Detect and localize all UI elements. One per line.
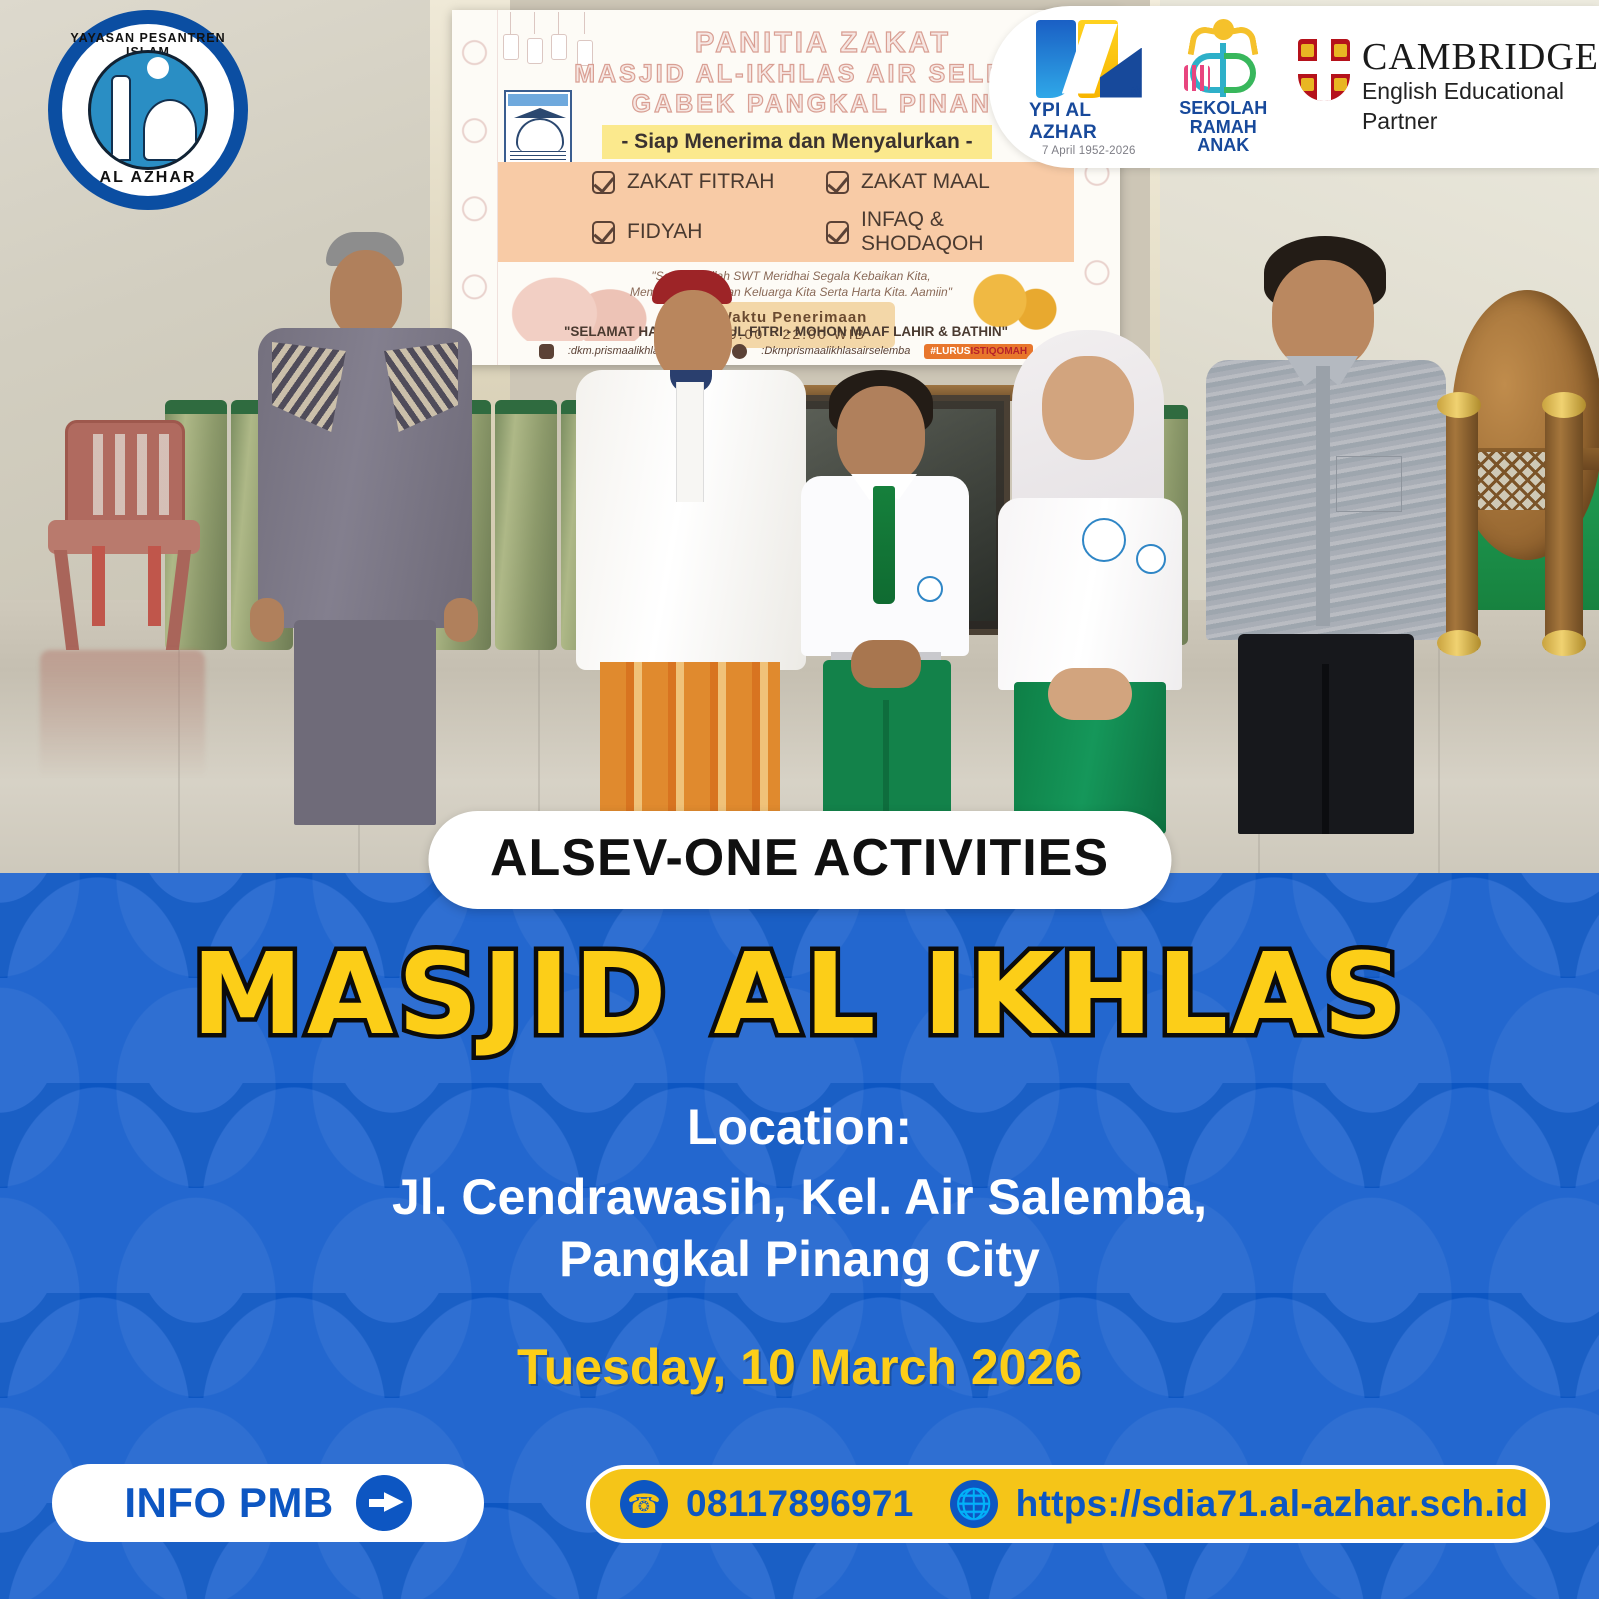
cambridge-crest-icon	[1298, 39, 1350, 101]
person-elder-white-koko	[560, 270, 820, 830]
cambridge-sub-line2: Partner	[1362, 109, 1599, 135]
info-pmb-button[interactable]: INFO PMB	[52, 1464, 484, 1542]
website-url[interactable]: https://sdia71.al-azhar.sch.id	[1016, 1483, 1529, 1525]
sekolah-ramah-anak-block: SEKOLAH RAMAH ANAK	[1169, 19, 1278, 156]
minbar-post-cap	[1542, 392, 1586, 418]
partner-badge: th YPI AL AZHAR 7 April 1952-2026 SEKOLA…	[989, 6, 1599, 168]
check-icon	[826, 171, 849, 194]
hand-left	[250, 598, 284, 642]
shirt-pocket	[1336, 456, 1402, 512]
location-line1: Jl. Cendrawasih, Kel. Air Salemba,	[0, 1168, 1599, 1226]
child-plant-sun-icon	[1184, 19, 1262, 99]
person-student-boy	[795, 370, 975, 832]
banner-item: ZAKAT MAAL	[826, 170, 1060, 194]
minbar-post-cap	[1437, 392, 1481, 418]
banner-item-label: ZAKAT FITRAH	[627, 170, 774, 194]
banner-strip: - Siap Menerima dan Menyalurkan -	[602, 125, 992, 159]
minbar-post-cap	[1437, 630, 1481, 656]
contact-bar: 08117896971 https://sdia71.al-azhar.sch.…	[586, 1465, 1550, 1543]
school-badge-icon	[1082, 518, 1126, 562]
cambridge-sub-line1: English Educational	[1362, 79, 1599, 105]
school-badge-small-icon	[1136, 544, 1166, 574]
black-trousers	[1238, 634, 1414, 834]
ypi-al-azhar-watermark-logo: YAYASAN PESANTREN ISLAM AL AZHAR	[48, 10, 248, 210]
event-date: Tuesday, 10 March 2026	[0, 1338, 1599, 1396]
check-icon	[826, 221, 849, 244]
hands-clasped	[851, 640, 921, 688]
phone-icon	[620, 1480, 668, 1528]
sarong	[600, 662, 780, 832]
event-photo: PANITIA ZAKAT MASJID AL-IKHLAS AIR SELEM…	[0, 0, 1599, 875]
banner-item-label: ZAKAT MAAL	[861, 170, 990, 194]
mosque-dome-minaret-icon	[88, 50, 208, 170]
masjid-logo-icon	[504, 90, 572, 168]
phone-number[interactable]: 08117896971	[686, 1483, 914, 1525]
minbar-post-cap	[1542, 630, 1586, 656]
logo-ring-bottom-text: AL AZHAR	[62, 169, 234, 187]
ypi-name: YPI AL AZHAR	[1029, 100, 1149, 144]
head	[1272, 260, 1374, 370]
ypi-logo-block: th YPI AL AZHAR 7 April 1952-2026	[1029, 18, 1149, 157]
hand-right	[444, 598, 478, 642]
instagram-icon	[539, 344, 554, 359]
info-pmb-label: INFO PMB	[124, 1479, 333, 1527]
shirt-placket	[676, 382, 704, 502]
activities-pill-title: ALSEV-ONE ACTIVITIES	[428, 811, 1171, 909]
head	[654, 290, 732, 382]
banner-item-list: ZAKAT FITRAH ZAKAT MAAL FIDYAH INFAQ & S…	[592, 170, 1060, 256]
location-label: Location:	[0, 1098, 1599, 1156]
head	[837, 386, 925, 484]
person-man-grey-shirt	[1196, 236, 1456, 832]
minbar-post-right	[1545, 400, 1583, 650]
globe-icon	[950, 1480, 998, 1528]
location-line2: Pangkal Pinang City	[0, 1230, 1599, 1288]
banner-item: ZAKAT FITRAH	[592, 170, 826, 194]
arrow-right-icon[interactable]	[356, 1475, 412, 1531]
poster-root: PANITIA ZAKAT MASJID AL-IKHLAS AIR SELEM…	[0, 0, 1599, 1599]
cambridge-wordmark: CAMBRIDGE	[1362, 39, 1599, 75]
anniversary-74-icon: th	[1034, 18, 1144, 100]
sra-line2: RAMAH ANAK	[1169, 118, 1278, 156]
head	[1042, 356, 1134, 460]
anniversary-suffix: th	[1130, 84, 1141, 98]
ypi-dates: 7 April 1952-2026	[1042, 145, 1136, 157]
person-student-girl	[990, 330, 1190, 832]
shirt-placket	[1316, 366, 1330, 626]
plastic-chair	[40, 420, 205, 650]
legs	[294, 620, 436, 825]
hashtag-part-a: #LURUS	[930, 346, 970, 357]
person-man-grey-koko	[238, 232, 488, 832]
cambridge-block: CAMBRIDGE English Educational Partner	[1298, 39, 1599, 135]
check-icon	[592, 171, 615, 194]
hands-clasped	[1048, 668, 1132, 720]
school-badge-icon	[917, 576, 943, 602]
chair-reflection	[40, 650, 205, 800]
head	[330, 250, 402, 338]
green-necktie	[873, 486, 895, 604]
sra-line1: SEKOLAH	[1179, 99, 1267, 118]
page-title: MASJID AL IKHLAS	[0, 930, 1599, 1060]
